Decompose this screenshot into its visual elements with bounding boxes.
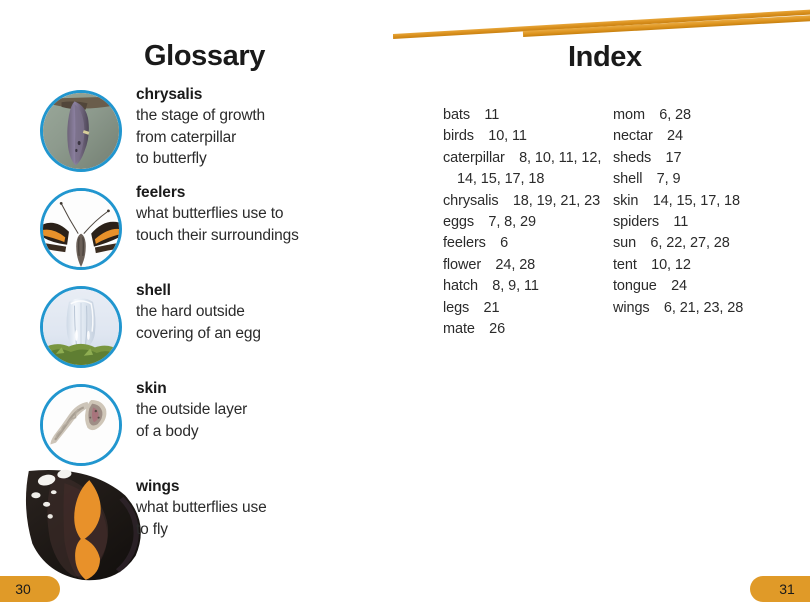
index-entry: mate 26 — [443, 319, 603, 340]
index-entry: spiders 11 — [613, 212, 793, 233]
glossary-definition: the outside layer of a body — [136, 399, 386, 442]
egg-shell-photo-art — [43, 289, 119, 365]
index-page-refs: 8, 10, 11, 12, — [519, 150, 601, 166]
index-entry: sheds 17 — [613, 148, 793, 169]
glossary-entry: chrysalisthe stage of growth from caterp… — [30, 86, 380, 184]
index-page-refs: 26 — [489, 321, 505, 337]
glossary-term: wings — [136, 476, 386, 497]
index-entry: shell 7, 9 — [613, 169, 793, 190]
index-page-refs: 6, 22, 27, 28 — [650, 235, 729, 251]
index-page-refs: 6, 28 — [659, 107, 691, 123]
index-page-refs: 11 — [484, 107, 499, 123]
index-page-refs-continued: 14, 15, 17, 18 — [443, 169, 603, 190]
index-entry: bats 11 — [443, 105, 603, 126]
index-entry: feelers 6 — [443, 233, 603, 254]
index-page-refs: 24 — [667, 128, 683, 144]
index-term: feelers — [443, 235, 486, 251]
index-term: shell — [613, 171, 642, 187]
glossary-definition: what butterflies use to touch their surr… — [136, 203, 386, 246]
glossary-definition: what butterflies use to fly — [136, 497, 386, 540]
index-entry: sun 6, 22, 27, 28 — [613, 233, 793, 254]
orange-slant-rule-upper — [523, 15, 810, 37]
index-term: mom — [613, 107, 645, 123]
chrysalis-photo — [40, 90, 122, 172]
index-term: eggs — [443, 214, 474, 230]
index-heading: Index — [568, 41, 642, 74]
index-page-refs: 7, 9 — [657, 171, 681, 187]
index-term: sheds — [613, 150, 651, 166]
page-number-badge-left: 30 — [0, 576, 60, 602]
shed-skin-photo-art — [43, 387, 119, 463]
glossary-term: chrysalis — [136, 84, 386, 105]
glossary-heading: Glossary — [144, 40, 265, 73]
index-term: nectar — [613, 128, 653, 144]
index-page-refs: 10, 11 — [488, 128, 527, 144]
index-column-right: mom 6, 28nectar 24sheds 17shell 7, 9skin… — [613, 105, 793, 319]
orange-slant-rule-lower — [393, 9, 810, 39]
index-term: wings — [613, 300, 650, 316]
glossary-entry-text: skinthe outside layer of a body — [136, 378, 386, 442]
glossary-entry: shellthe hard outside covering of an egg — [30, 282, 380, 380]
index-entry: mom 6, 28 — [613, 105, 793, 126]
index-entry: wings 6, 21, 23, 28 — [613, 298, 793, 319]
index-term: tongue — [613, 278, 657, 294]
index-term: chrysalis — [443, 193, 499, 209]
egg-shell-photo — [40, 286, 122, 368]
index-term: spiders — [613, 214, 659, 230]
index-page-refs: 14, 15, 17, 18 — [653, 193, 740, 209]
index-entry: tent 10, 12 — [613, 255, 793, 276]
butterfly-wing-photo — [40, 482, 122, 564]
glossary-definition: the stage of growth from caterpillar to … — [136, 105, 386, 170]
index-entry: eggs 7, 8, 29 — [443, 212, 603, 233]
glossary-entry: feelerswhat butterflies use to touch the… — [30, 184, 380, 282]
glossary-list: chrysalisthe stage of growth from caterp… — [30, 86, 380, 576]
index-term: sun — [613, 235, 636, 251]
index-entry: flower 24, 28 — [443, 255, 603, 276]
index-page-refs: 11 — [673, 214, 688, 230]
index-entry: skin 14, 15, 17, 18 — [613, 191, 793, 212]
index-term: birds — [443, 128, 474, 144]
index-page-refs: 6 — [500, 235, 508, 251]
glossary-entry: skinthe outside layer of a body — [30, 380, 380, 478]
index-entry: caterpillar 8, 10, 11, 12,14, 15, 17, 18 — [443, 148, 603, 191]
butterfly-feelers-photo — [40, 188, 122, 270]
index-page-refs: 24 — [671, 278, 687, 294]
index-page-refs: 24, 28 — [495, 257, 535, 273]
book-spread: Glossary Index chrysalisthe stage of gro… — [0, 0, 810, 616]
glossary-term: feelers — [136, 182, 386, 203]
index-term: hatch — [443, 278, 478, 294]
glossary-term: skin — [136, 378, 386, 399]
glossary-definition: the hard outside covering of an egg — [136, 301, 386, 344]
index-term: caterpillar — [443, 150, 505, 166]
glossary-entry-text: chrysalisthe stage of growth from caterp… — [136, 84, 386, 170]
glossary-term: shell — [136, 280, 386, 301]
page-number-badge-right: 31 — [750, 576, 810, 602]
index-page-refs: 10, 12 — [651, 257, 691, 273]
index-page-refs: 18, 19, 21, 23 — [513, 193, 600, 209]
index-page-refs: 17 — [666, 150, 682, 166]
index-page-refs: 7, 8, 29 — [488, 214, 536, 230]
index-term: tent — [613, 257, 637, 273]
index-term: skin — [613, 193, 638, 209]
index-entry: chrysalis 18, 19, 21, 23 — [443, 191, 603, 212]
index-term: bats — [443, 107, 470, 123]
glossary-entry: wingswhat butterflies use to fly — [30, 478, 380, 576]
index-entry: nectar 24 — [613, 126, 793, 147]
index-column-left: bats 11birds 10, 11caterpillar 8, 10, 11… — [443, 105, 603, 340]
glossary-entry-text: wingswhat butterflies use to fly — [136, 476, 386, 540]
chrysalis-photo-art — [43, 93, 119, 169]
glossary-entry-text: shellthe hard outside covering of an egg — [136, 280, 386, 344]
index-term: legs — [443, 300, 469, 316]
index-entry: hatch 8, 9, 11 — [443, 276, 603, 297]
index-entry: legs 21 — [443, 298, 603, 319]
index-page-refs: 6, 21, 23, 28 — [664, 300, 743, 316]
index-term: flower — [443, 257, 481, 273]
index-term: mate — [443, 321, 475, 337]
index-page-refs: 21 — [484, 300, 500, 316]
shed-skin-photo — [40, 384, 122, 466]
glossary-entry-text: feelerswhat butterflies use to touch the… — [136, 182, 386, 246]
index-entry: birds 10, 11 — [443, 126, 603, 147]
index-page-refs: 8, 9, 11 — [492, 278, 539, 294]
index-entry: tongue 24 — [613, 276, 793, 297]
butterfly-feelers-photo-art — [43, 191, 119, 267]
